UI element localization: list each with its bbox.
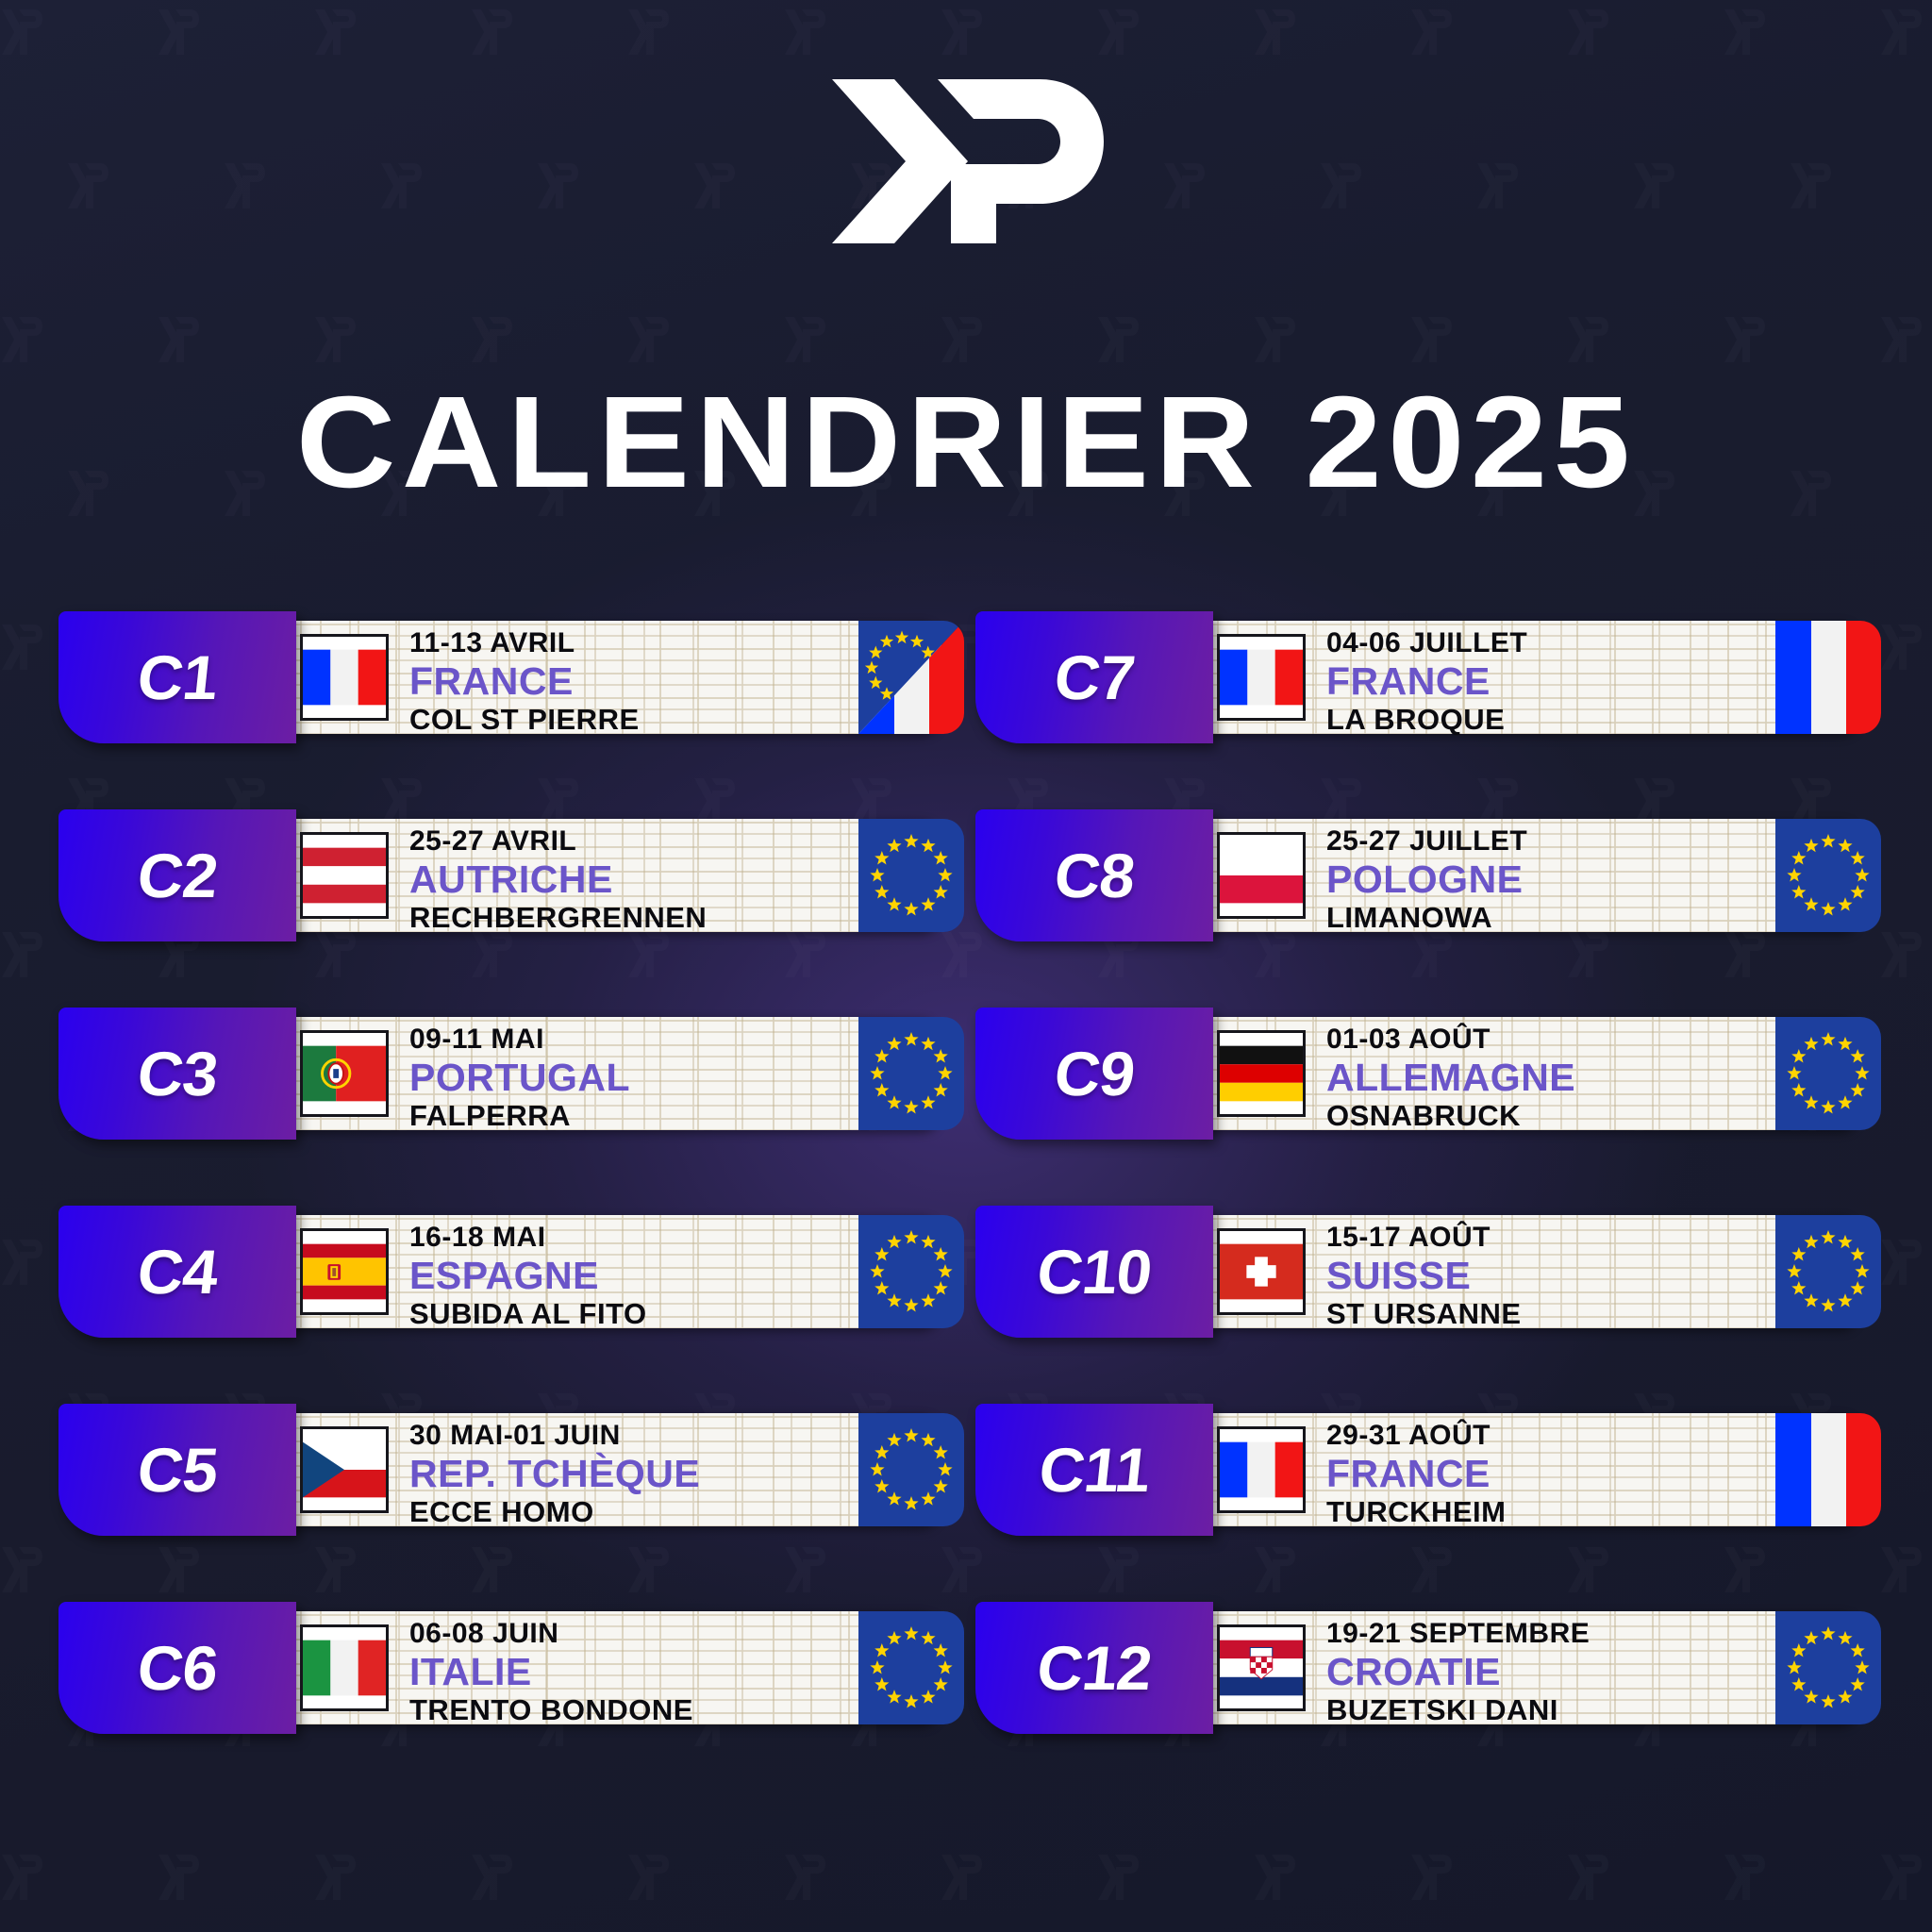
eu-badge — [1775, 1611, 1881, 1724]
event-row-c1[interactable]: C111-13 AVRILFRANCECOL ST PIERRE — [58, 611, 964, 743]
eu-badge — [858, 819, 964, 932]
france-flag — [1217, 1426, 1306, 1513]
watermark-kp-icon — [1723, 8, 1766, 57]
watermark-kp-icon — [1879, 1853, 1923, 1902]
watermark-kp-icon — [470, 315, 513, 364]
event-venue: ST URSANNE — [1326, 1299, 1522, 1328]
event-country: FRANCE — [1326, 662, 1527, 701]
event-info: 04-06 JUILLETFRANCELA BROQUE — [1326, 629, 1527, 734]
watermark-kp-icon — [0, 1545, 43, 1594]
watermark-kp-icon — [0, 623, 43, 672]
event-row-c9[interactable]: C901-03 AOÛTALLEMAGNEOSNABRUCK — [975, 1008, 1881, 1140]
event-code-label: C1 — [134, 641, 221, 713]
event-code-label: C3 — [134, 1038, 221, 1109]
event-date: 30 MAI-01 JUIN — [409, 1422, 700, 1450]
event-info: 11-13 AVRILFRANCECOL ST PIERRE — [409, 629, 640, 734]
czech-flag — [300, 1426, 389, 1513]
event-row-c12[interactable]: C1219-21 SEPTEMBRECROATIEBUZETSKI DANI — [975, 1602, 1881, 1734]
watermark-kp-icon — [1096, 315, 1140, 364]
event-code-tab[interactable]: C2 — [58, 809, 296, 941]
watermark-kp-icon — [1566, 8, 1609, 57]
event-country: ESPAGNE — [409, 1257, 647, 1295]
watermark-kp-icon — [0, 1853, 43, 1902]
watermark-kp-icon — [0, 1238, 43, 1287]
croatia-flag — [1217, 1624, 1306, 1711]
event-info: 25-27 JUILLETPOLOGNELIMANOWA — [1326, 827, 1527, 932]
event-date: 16-18 MAI — [409, 1224, 647, 1252]
eu-badge — [858, 1413, 964, 1526]
event-info: 06-08 JUINITALIETRENTO BONDONE — [409, 1620, 693, 1724]
watermark-kp-icon — [940, 1853, 983, 1902]
austria-flag — [300, 832, 389, 919]
event-row-c6[interactable]: C606-08 JUINITALIETRENTO BONDONE — [58, 1602, 964, 1734]
watermark-kp-icon — [783, 8, 826, 57]
event-date: 04-06 JUILLET — [1326, 629, 1527, 658]
event-venue: RECHBERGRENNEN — [409, 903, 707, 932]
event-venue: SUBIDA AL FITO — [409, 1299, 647, 1328]
event-code-label: C10 — [1034, 1236, 1155, 1307]
eu-badge — [858, 1017, 964, 1130]
event-venue: OSNABRUCK — [1326, 1101, 1575, 1130]
event-country: CROATIE — [1326, 1653, 1590, 1691]
watermark-kp-icon — [1879, 1545, 1923, 1594]
event-code-tab[interactable]: C6 — [58, 1602, 296, 1734]
event-info: 15-17 AOÛTSUISSEST URSANNE — [1326, 1224, 1522, 1328]
event-country: SUISSE — [1326, 1257, 1522, 1295]
event-venue: TRENTO BONDONE — [409, 1695, 693, 1724]
event-code-tab[interactable]: C3 — [58, 1008, 296, 1140]
calendar-grid: C111-13 AVRILFRANCECOL ST PIERREC704-06 … — [58, 611, 1879, 1734]
watermark-kp-icon — [313, 8, 357, 57]
event-date: 09-11 MAI — [409, 1025, 630, 1054]
watermark-kp-icon — [0, 8, 43, 57]
watermark-kp-icon — [783, 315, 826, 364]
watermark-kp-icon — [1409, 1853, 1453, 1902]
watermark-kp-icon — [1253, 315, 1296, 364]
page-title: CALENDRIER 2025 — [0, 377, 1932, 508]
spain-flag — [300, 1228, 389, 1315]
eu-badge — [1775, 1017, 1881, 1130]
event-code-tab[interactable]: C9 — [975, 1008, 1213, 1140]
event-date: 15-17 AOÛT — [1326, 1224, 1522, 1252]
event-code-tab[interactable]: C5 — [58, 1404, 296, 1536]
event-venue: TURCKHEIM — [1326, 1497, 1507, 1526]
page-title-text: CALENDRIER 2025 — [296, 377, 1636, 508]
event-venue: ECCE HOMO — [409, 1497, 700, 1526]
event-country: AUTRICHE — [409, 860, 707, 899]
watermark-kp-icon — [1723, 1853, 1766, 1902]
event-row-c7[interactable]: C704-06 JUILLETFRANCELA BROQUE — [975, 611, 1881, 743]
watermark-kp-icon — [223, 161, 266, 210]
event-country: PORTUGAL — [409, 1058, 630, 1097]
event-country: ITALIE — [409, 1653, 693, 1691]
watermark-kp-icon — [66, 161, 109, 210]
eu-france-split-badge — [858, 621, 964, 734]
event-date: 29-31 AOÛT — [1326, 1422, 1507, 1450]
event-row-c5[interactable]: C530 MAI-01 JUINREP. TCHÈQUEECCE HOMO — [58, 1404, 964, 1536]
watermark-kp-icon — [470, 8, 513, 57]
event-code-tab[interactable]: C7 — [975, 611, 1213, 743]
watermark-kp-icon — [1879, 930, 1923, 979]
watermark-kp-icon — [1475, 161, 1519, 210]
watermark-kp-icon — [940, 315, 983, 364]
event-date: 01-03 AOÛT — [1326, 1025, 1575, 1054]
event-venue: COL ST PIERRE — [409, 705, 640, 734]
watermark-kp-icon — [1879, 315, 1923, 364]
event-code-tab[interactable]: C12 — [975, 1602, 1213, 1734]
watermark-kp-icon — [1789, 161, 1832, 210]
event-code-label: C9 — [1051, 1038, 1138, 1109]
event-code-label: C4 — [134, 1236, 221, 1307]
event-country: POLOGNE — [1326, 860, 1527, 899]
watermark-kp-icon — [0, 315, 43, 364]
watermark-kp-icon — [940, 8, 983, 57]
event-info: 19-21 SEPTEMBRECROATIEBUZETSKI DANI — [1326, 1620, 1590, 1724]
watermark-kp-icon — [1253, 8, 1296, 57]
event-info: 09-11 MAIPORTUGALFALPERRA — [409, 1025, 630, 1130]
event-code-label: C6 — [134, 1632, 221, 1704]
event-date: 06-08 JUIN — [409, 1620, 693, 1648]
poland-flag — [1217, 832, 1306, 919]
event-code-label: C7 — [1051, 641, 1138, 713]
event-country: FRANCE — [1326, 1455, 1507, 1493]
event-info: 30 MAI-01 JUINREP. TCHÈQUEECCE HOMO — [409, 1422, 700, 1526]
event-country: REP. TCHÈQUE — [409, 1455, 700, 1493]
event-venue: FALPERRA — [409, 1101, 630, 1130]
watermark-kp-icon — [626, 315, 670, 364]
watermark-kp-icon — [1409, 8, 1453, 57]
watermark-kp-icon — [1319, 161, 1362, 210]
switzerland-flag — [1217, 1228, 1306, 1315]
event-country: ALLEMAGNE — [1326, 1058, 1575, 1097]
watermark-kp-icon — [1879, 8, 1923, 57]
watermark-kp-icon — [379, 161, 423, 210]
france-flag — [1217, 634, 1306, 721]
event-date: 25-27 JUILLET — [1326, 827, 1527, 856]
italy-flag — [300, 1624, 389, 1711]
event-row-c10[interactable]: C1015-17 AOÛTSUISSEST URSANNE — [975, 1206, 1881, 1338]
eu-badge — [858, 1611, 964, 1724]
event-venue: LA BROQUE — [1326, 705, 1527, 734]
event-info: 25-27 AVRILAUTRICHERECHBERGRENNEN — [409, 827, 707, 932]
watermark-kp-icon — [626, 1853, 670, 1902]
event-row-c4[interactable]: C416-18 MAIESPAGNESUBIDA AL FITO — [58, 1206, 964, 1338]
watermark-kp-icon — [1162, 161, 1206, 210]
event-row-c2[interactable]: C225-27 AVRILAUTRICHERECHBERGRENNEN — [58, 809, 964, 941]
event-row-c3[interactable]: C309-11 MAIPORTUGALFALPERRA — [58, 1008, 964, 1140]
event-code-tab[interactable]: C10 — [975, 1206, 1213, 1338]
watermark-kp-icon — [0, 930, 43, 979]
watermark-kp-icon — [157, 1853, 200, 1902]
event-code-tab[interactable]: C8 — [975, 809, 1213, 941]
france-badge — [1775, 1413, 1881, 1526]
event-code-label: C12 — [1034, 1632, 1155, 1704]
event-date: 11-13 AVRIL — [409, 629, 640, 658]
kp-logo — [824, 74, 1108, 249]
event-info: 16-18 MAIESPAGNESUBIDA AL FITO — [409, 1224, 647, 1328]
france-flag — [300, 634, 389, 721]
watermark-kp-icon — [157, 315, 200, 364]
event-date: 19-21 SEPTEMBRE — [1326, 1620, 1590, 1648]
watermark-kp-icon — [692, 161, 736, 210]
event-row-c11[interactable]: C1129-31 AOÛTFRANCETURCKHEIM — [975, 1404, 1881, 1536]
watermark-kp-icon — [1409, 315, 1453, 364]
watermark-kp-icon — [626, 8, 670, 57]
eu-badge — [1775, 1215, 1881, 1328]
watermark-kp-icon — [1096, 1853, 1140, 1902]
event-info: 29-31 AOÛTFRANCETURCKHEIM — [1326, 1422, 1507, 1526]
event-code-tab[interactable]: C11 — [975, 1404, 1213, 1536]
event-code-label: C8 — [1051, 840, 1138, 911]
watermark-kp-icon — [536, 161, 579, 210]
event-venue: LIMANOWA — [1326, 903, 1527, 932]
watermark-kp-icon — [1566, 1853, 1609, 1902]
portugal-flag — [300, 1030, 389, 1117]
watermark-kp-icon — [470, 1853, 513, 1902]
event-row-c8[interactable]: C825-27 JUILLETPOLOGNELIMANOWA — [975, 809, 1881, 941]
event-code-tab[interactable]: C1 — [58, 611, 296, 743]
watermark-kp-icon — [1723, 315, 1766, 364]
event-code-label: C11 — [1036, 1434, 1154, 1506]
event-code-label: C5 — [134, 1434, 221, 1506]
event-code-label: C2 — [134, 840, 221, 911]
watermark-kp-icon — [1566, 315, 1609, 364]
event-country: FRANCE — [409, 662, 640, 701]
event-code-tab[interactable]: C4 — [58, 1206, 296, 1338]
watermark-kp-icon — [313, 315, 357, 364]
france-badge — [1775, 621, 1881, 734]
watermark-kp-icon — [313, 1853, 357, 1902]
watermark-kp-icon — [783, 1853, 826, 1902]
watermark-kp-icon — [1096, 8, 1140, 57]
eu-badge — [1775, 819, 1881, 932]
watermark-kp-icon — [1253, 1853, 1296, 1902]
germany-flag — [1217, 1030, 1306, 1117]
watermark-kp-icon — [1879, 623, 1923, 672]
watermark-kp-icon — [1879, 1238, 1923, 1287]
event-venue: BUZETSKI DANI — [1326, 1695, 1590, 1724]
event-date: 25-27 AVRIL — [409, 827, 707, 856]
watermark-kp-icon — [1632, 161, 1675, 210]
eu-badge — [858, 1215, 964, 1328]
event-info: 01-03 AOÛTALLEMAGNEOSNABRUCK — [1326, 1025, 1575, 1130]
watermark-kp-icon — [157, 8, 200, 57]
